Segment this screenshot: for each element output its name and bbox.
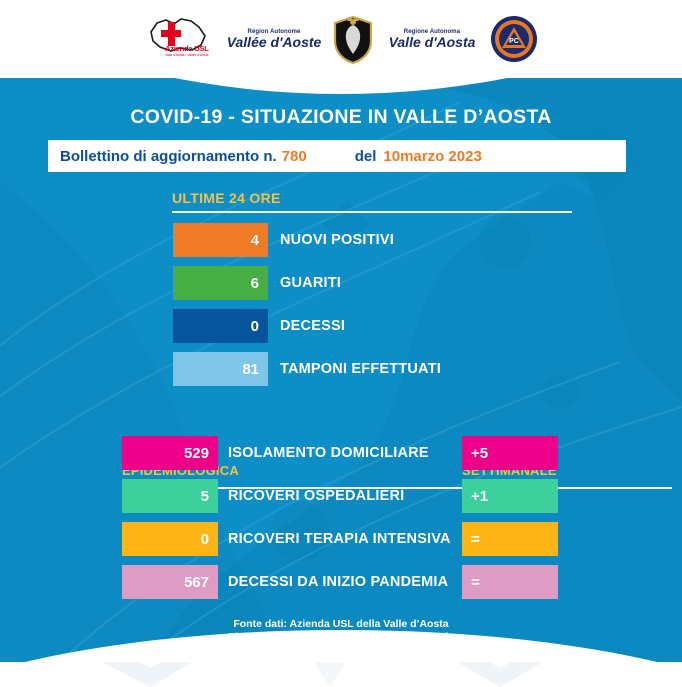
stat-value-ricoveri-ospedalieri: 5 xyxy=(122,479,218,513)
azienda-usl-logo: Azienda USL Valle d'Aosta / Vallée d'Aos… xyxy=(143,14,217,64)
red-cross-icon xyxy=(161,22,181,46)
section-last24-title: ULTIME 24 ORE xyxy=(172,190,281,206)
regione-autonoma-main: Valle d'Aosta xyxy=(389,35,476,50)
bulletin-bar: Bollettino di aggiornamento n. 780 del 1… xyxy=(48,140,626,172)
stat-variation-isolamento-domiciliare: +5 xyxy=(462,436,558,470)
logo-strip: Azienda USL Valle d'Aosta / Vallée d'Aos… xyxy=(0,0,682,78)
stat-value-decessi-inizio-pandemia: 567 xyxy=(122,565,218,599)
bulletin-date-label: del xyxy=(355,148,377,165)
page-title: COVID-19 - SITUAZIONE IN VALLE D’AOSTA xyxy=(0,106,682,129)
section-last24-divider xyxy=(172,211,572,213)
footer-elaboration-line: Elaborazione dati: Protezione civile reg… xyxy=(0,631,682,644)
panel-content: COVID-19 - SITUAZIONE IN VALLE D’AOSTA B… xyxy=(0,62,682,662)
bulletin-date-value: 10marzo 2023 xyxy=(383,148,481,165)
region-autonome-main: Vallée d'Aoste xyxy=(227,35,322,50)
stat-row-decessi: 0 DECESSI xyxy=(173,309,345,343)
region-autonome-wordmark: Région Autonome Vallée d'Aoste xyxy=(235,19,313,59)
stat-value-guariti: 6 xyxy=(173,266,268,300)
regione-autonoma-wordmark: Regione Autonoma Valle d'Aosta xyxy=(393,19,471,59)
stat-value-tamponi: 81 xyxy=(173,352,268,386)
stat-value-nuovi-positivi: 4 xyxy=(173,223,268,257)
usl-wordmark: Azienda USL xyxy=(165,44,209,53)
protezione-civile-icon: PC xyxy=(489,14,539,64)
stat-row-nuovi-positivi: 4 NUOVI POSITIVI xyxy=(173,223,394,257)
stat-label-ricoveri-ospedalieri: RICOVERI OSPEDALIERI xyxy=(228,479,404,513)
footer-source-line: Fonte dati: Azienda USL della Valle d’Ao… xyxy=(0,618,682,631)
stat-row-tamponi: 81 TAMPONI EFFETTUATI xyxy=(173,352,441,386)
svg-text:PC: PC xyxy=(509,38,519,45)
stat-value-decessi: 0 xyxy=(173,309,268,343)
bulletin-label: Bollettino di aggiornamento n. xyxy=(60,148,277,165)
stat-label-decessi-inizio-pandemia: DECESSI DA INIZIO PANDEMIA xyxy=(228,565,448,599)
stat-value-terapia-intensiva: 0 xyxy=(122,522,218,556)
footer-credits: Fonte dati: Azienda USL della Valle d’Ao… xyxy=(0,618,682,644)
stat-label-guariti: GUARITI xyxy=(280,275,341,291)
main-panel: COVID-19 - SITUAZIONE IN VALLE D’AOSTA B… xyxy=(0,62,682,662)
stat-label-terapia-intensiva: RICOVERI TERAPIA INTENSIVA xyxy=(228,522,451,556)
bulletin-number: 780 xyxy=(282,148,307,165)
stat-variation-terapia-intensiva: = xyxy=(462,522,558,556)
stat-variation-decessi-inizio-pandemia: = xyxy=(462,565,558,599)
valle-daosta-shield-icon xyxy=(331,13,375,65)
usl-subtitle: Valle d'Aosta / Vallée d'Aoste xyxy=(165,53,209,57)
stat-label-decessi: DECESSI xyxy=(280,318,345,334)
stat-row-guariti: 6 GUARITI xyxy=(173,266,341,300)
stat-label-isolamento-domiciliare: ISOLAMENTO DOMICILIARE xyxy=(228,436,429,470)
stat-label-tamponi: TAMPONI EFFETTUATI xyxy=(280,361,441,377)
stat-variation-ricoveri-ospedalieri: +1 xyxy=(462,479,558,513)
stat-value-isolamento-domiciliare: 529 xyxy=(122,436,218,470)
stat-label-nuovi-positivi: NUOVI POSITIVI xyxy=(280,232,394,248)
